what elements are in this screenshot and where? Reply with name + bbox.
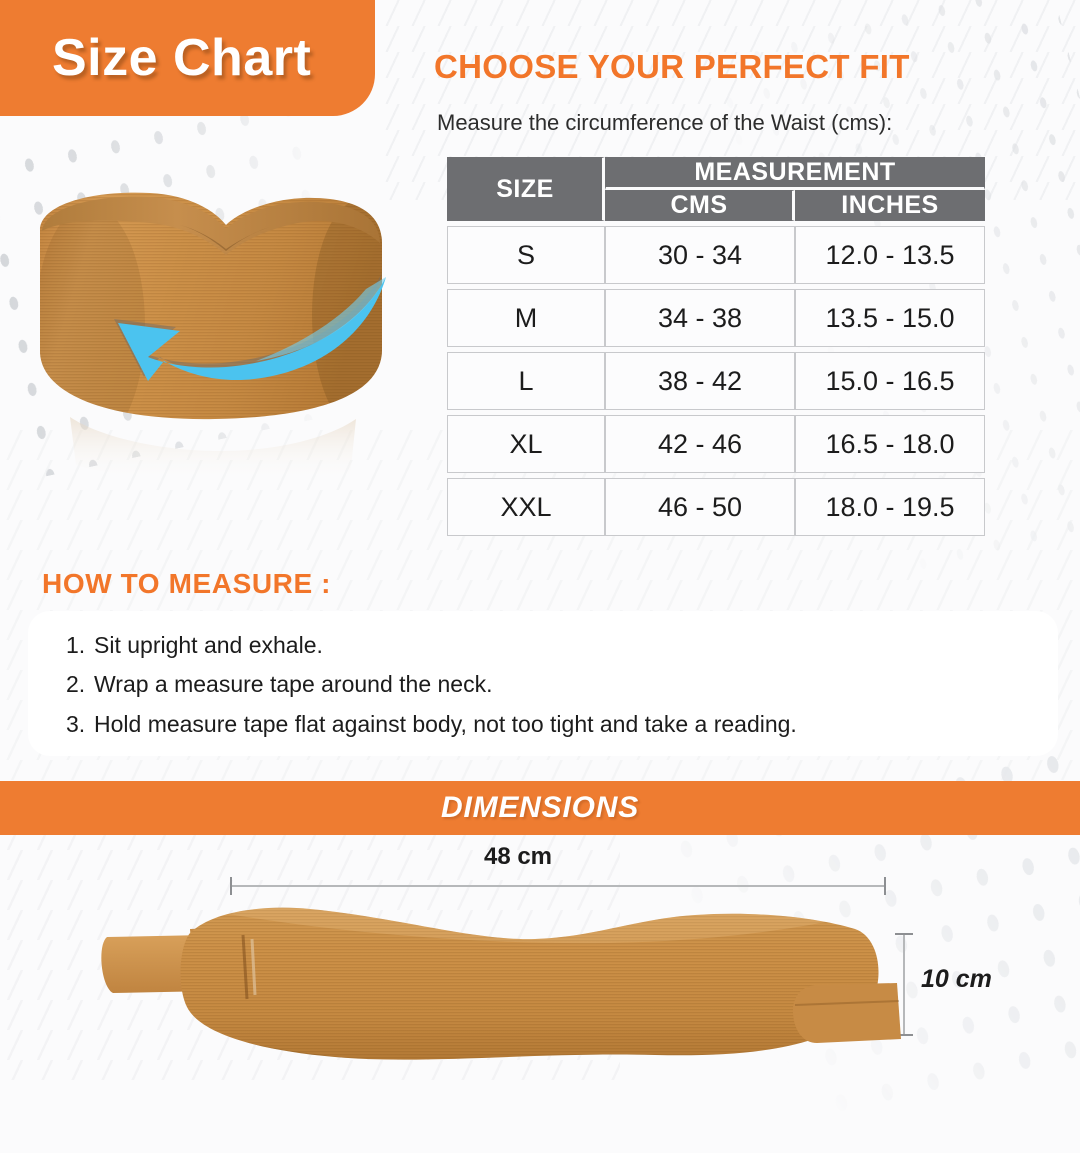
- cell-size: XXL: [447, 478, 605, 536]
- table-row: XL 42 - 46 16.5 - 18.0: [447, 415, 985, 473]
- list-item-text: Sit upright and exhale.: [94, 633, 323, 658]
- column-header-size: SIZE: [447, 157, 605, 221]
- cell-inches: 13.5 - 15.0: [795, 289, 985, 347]
- cell-cms: 38 - 42: [605, 352, 795, 410]
- cell-size: M: [447, 289, 605, 347]
- how-to-measure-list: 1. Sit upright and exhale. 2. Wrap a mea…: [28, 611, 1058, 737]
- cell-size: S: [447, 226, 605, 284]
- column-header-inches: INCHES: [795, 190, 985, 221]
- size-chart-table: SIZE MEASUREMENT CMS INCHES S 30 - 34 12…: [447, 157, 985, 536]
- fit-heading: CHOOSE YOUR PERFECT FIT: [434, 48, 910, 86]
- flat-collar-illustration: [95, 895, 905, 1080]
- page-title: Size Chart: [0, 28, 311, 88]
- table-body: S 30 - 34 12.0 - 13.5 M 34 - 38 13.5 - 1…: [447, 221, 985, 536]
- fit-subtitle: Measure the circumference of the Waist (…: [437, 110, 892, 136]
- cell-inches: 16.5 - 18.0: [795, 415, 985, 473]
- list-item: 1. Sit upright and exhale.: [66, 633, 1058, 658]
- cell-inches: 12.0 - 13.5: [795, 226, 985, 284]
- list-item: 2. Wrap a measure tape around the neck.: [66, 672, 1058, 697]
- cell-size: L: [447, 352, 605, 410]
- table-row: XXL 46 - 50 18.0 - 19.5: [447, 478, 985, 536]
- list-item: 3. Hold measure tape flat against body, …: [66, 712, 1058, 737]
- cell-size: XL: [447, 415, 605, 473]
- list-item-text: Wrap a measure tape around the neck.: [94, 672, 492, 697]
- title-banner: Size Chart: [0, 0, 375, 116]
- collar-illustration: [30, 185, 390, 485]
- how-to-measure-heading: HOW TO MEASURE :: [42, 568, 331, 600]
- list-item-number: 1.: [66, 633, 94, 658]
- cervical-collar-image: [30, 185, 390, 485]
- table-head: SIZE MEASUREMENT CMS INCHES: [447, 157, 985, 221]
- velcro-patch: [793, 983, 901, 1043]
- table-row: S 30 - 34 12.0 - 13.5: [447, 226, 985, 284]
- cell-cms: 46 - 50: [605, 478, 795, 536]
- cell-cms: 30 - 34: [605, 226, 795, 284]
- list-item-number: 3.: [66, 712, 94, 737]
- length-measurement-line: [230, 885, 886, 887]
- table-row: M 34 - 38 13.5 - 15.0: [447, 289, 985, 347]
- dimensions-banner: DIMENSIONS: [0, 781, 1080, 835]
- column-header-measurement: MEASUREMENT: [605, 157, 985, 190]
- cell-cms: 42 - 46: [605, 415, 795, 473]
- list-item-text: Hold measure tape flat against body, not…: [94, 712, 797, 737]
- list-item-number: 2.: [66, 672, 94, 697]
- column-header-cms: CMS: [605, 190, 795, 221]
- how-to-measure-card: 1. Sit upright and exhale. 2. Wrap a mea…: [28, 611, 1058, 756]
- cervical-collar-flat-image: [95, 895, 905, 1080]
- cell-cms: 34 - 38: [605, 289, 795, 347]
- dimensions-banner-label: DIMENSIONS: [441, 791, 639, 825]
- table-header-row-1: SIZE MEASUREMENT: [447, 157, 985, 190]
- table-row: L 38 - 42 15.0 - 16.5: [447, 352, 985, 410]
- cell-inches: 18.0 - 19.5: [795, 478, 985, 536]
- height-measurement-label: 10 cm: [921, 965, 992, 994]
- length-measurement-label: 48 cm: [0, 843, 1058, 871]
- cell-inches: 15.0 - 16.5: [795, 352, 985, 410]
